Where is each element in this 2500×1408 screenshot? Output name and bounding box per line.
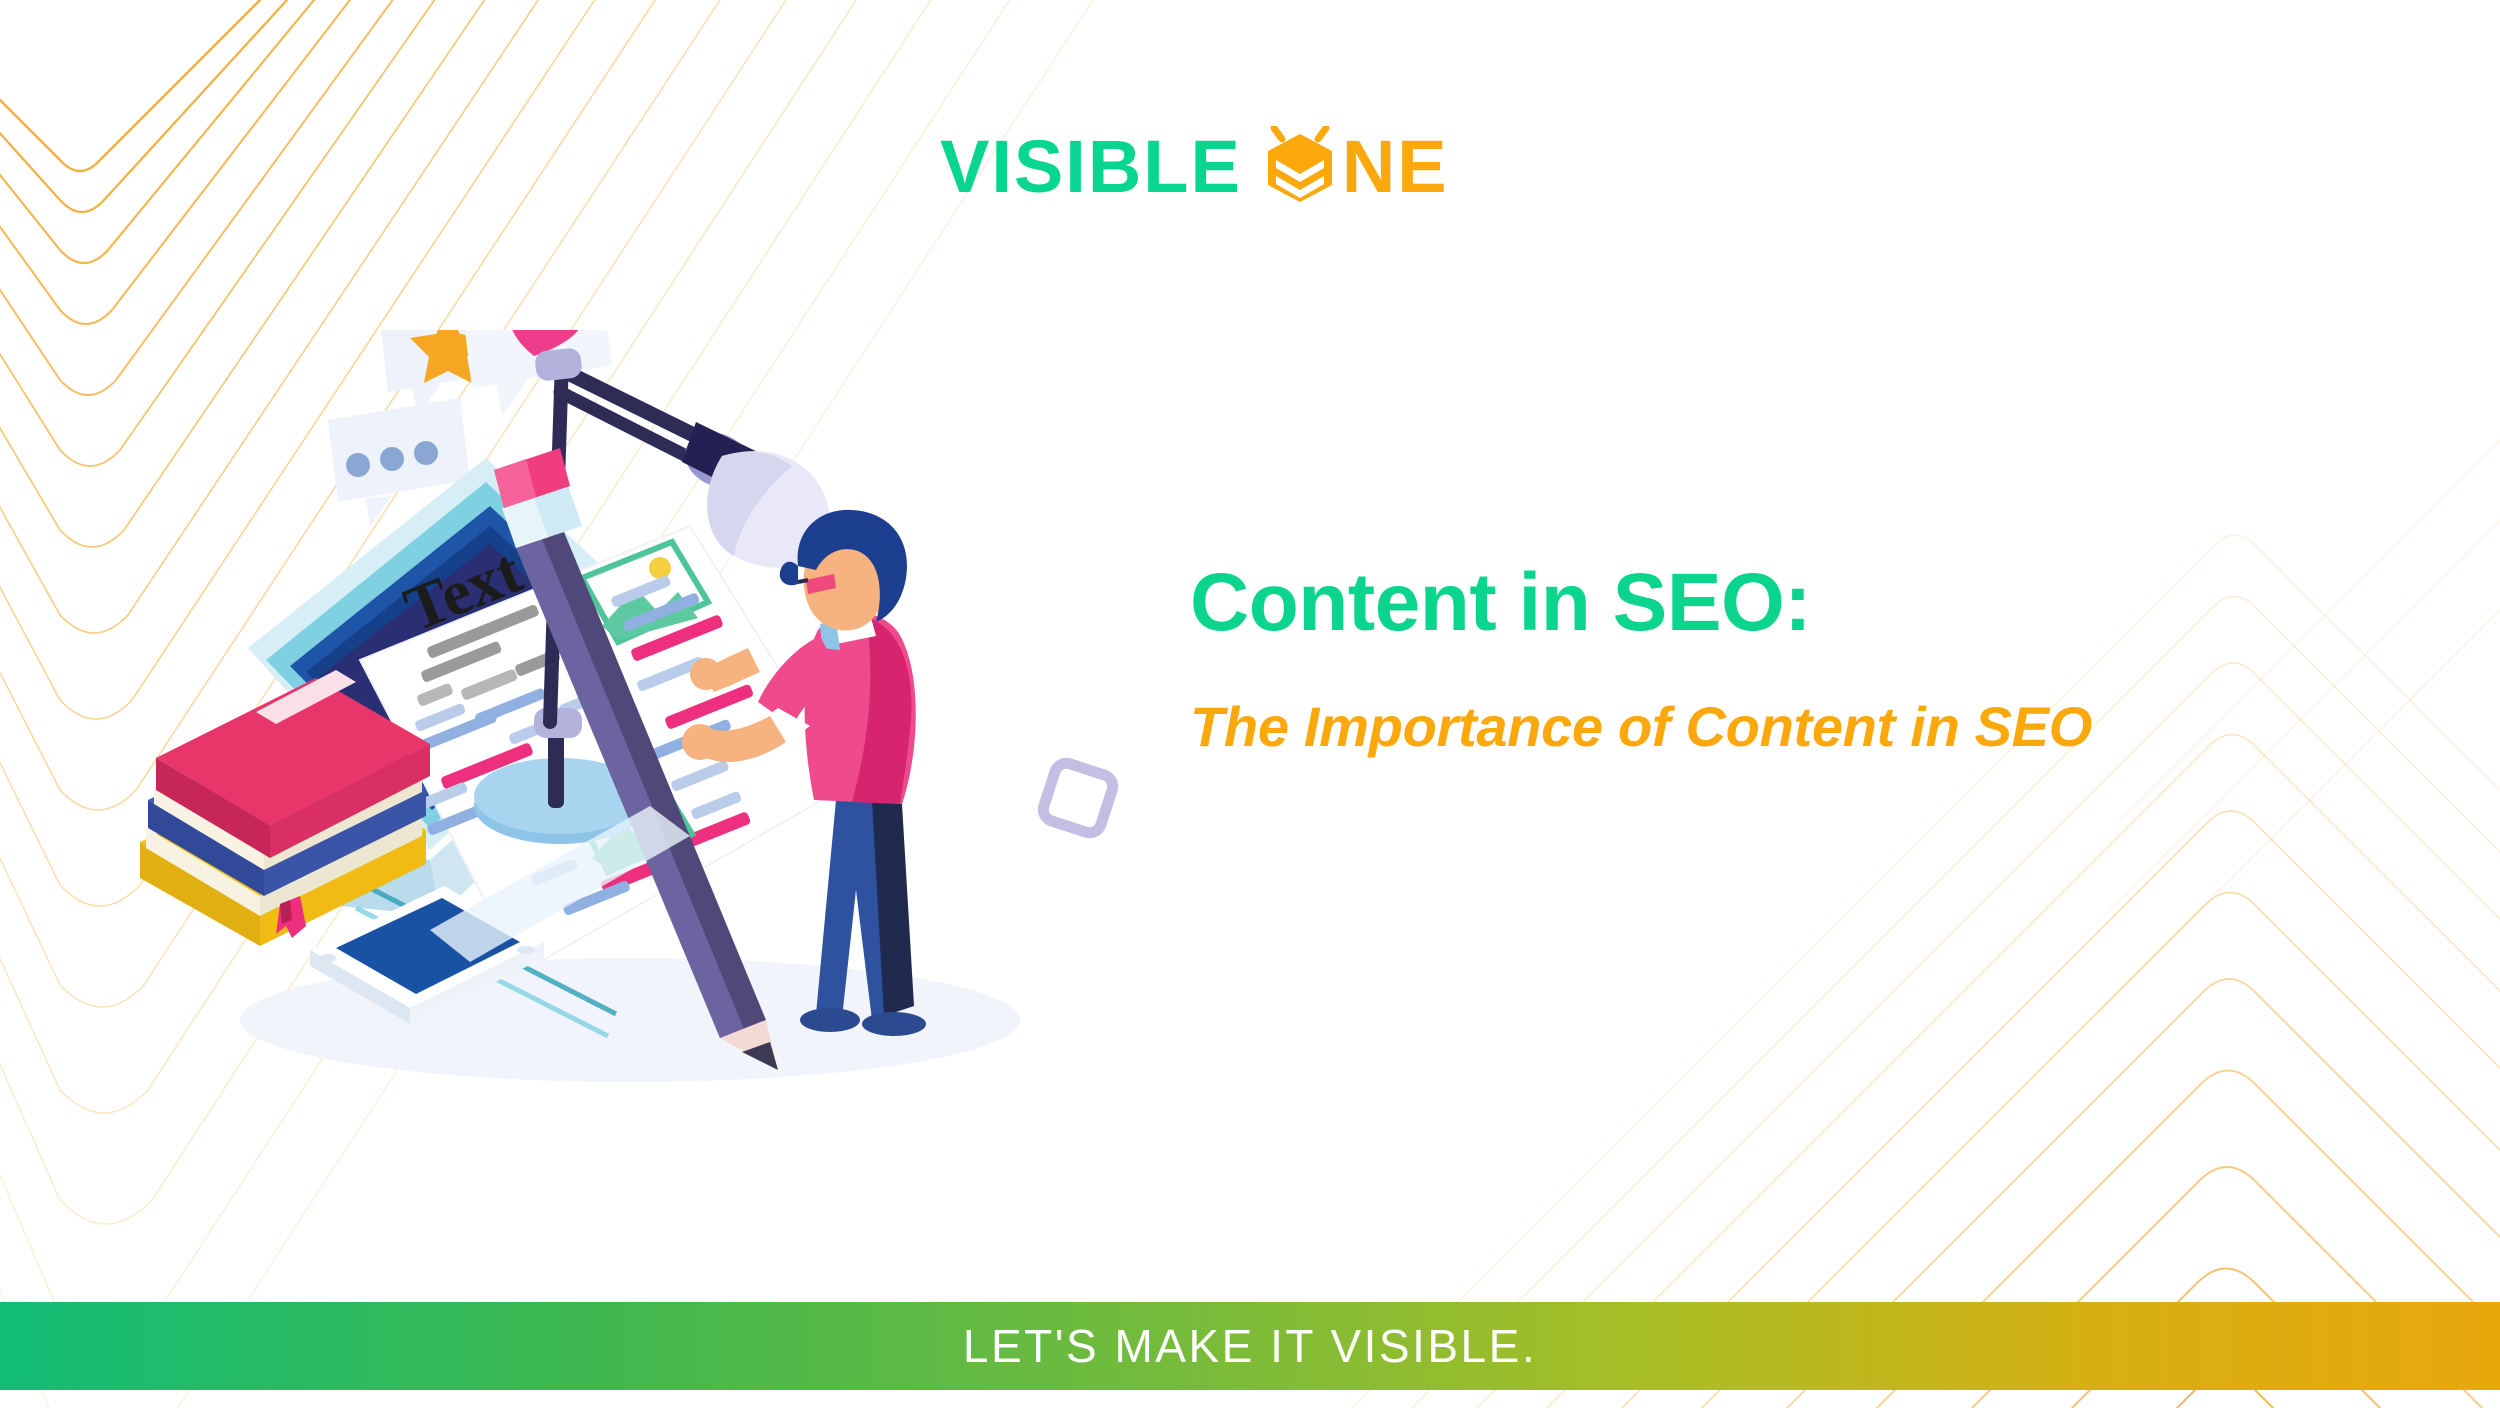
hero-illustration: Text [130,330,1150,1120]
headline-block: Content in SEO: The Importance of Conten… [1190,560,2430,758]
logo-text-visible: VISIBLE [940,130,1242,204]
logo-text-ne: NE [1342,130,1449,204]
slide-canvas: VISIBLE NE Content in SEO: The Importanc… [0,0,2500,1408]
page-title: Content in SEO: [1190,560,2430,646]
bee-hexagon-icon [1260,126,1340,208]
brand-logo[interactable]: VISIBLE NE [940,128,1449,206]
floating-square-icon [1040,760,1116,836]
footer-tagline: LET'S MAKE IT VISIBLE. [963,1319,1537,1373]
footer-banner: LET'S MAKE IT VISIBLE. [0,1302,2500,1390]
page-subtitle: The Importance of Content in SEO [1190,696,2430,758]
